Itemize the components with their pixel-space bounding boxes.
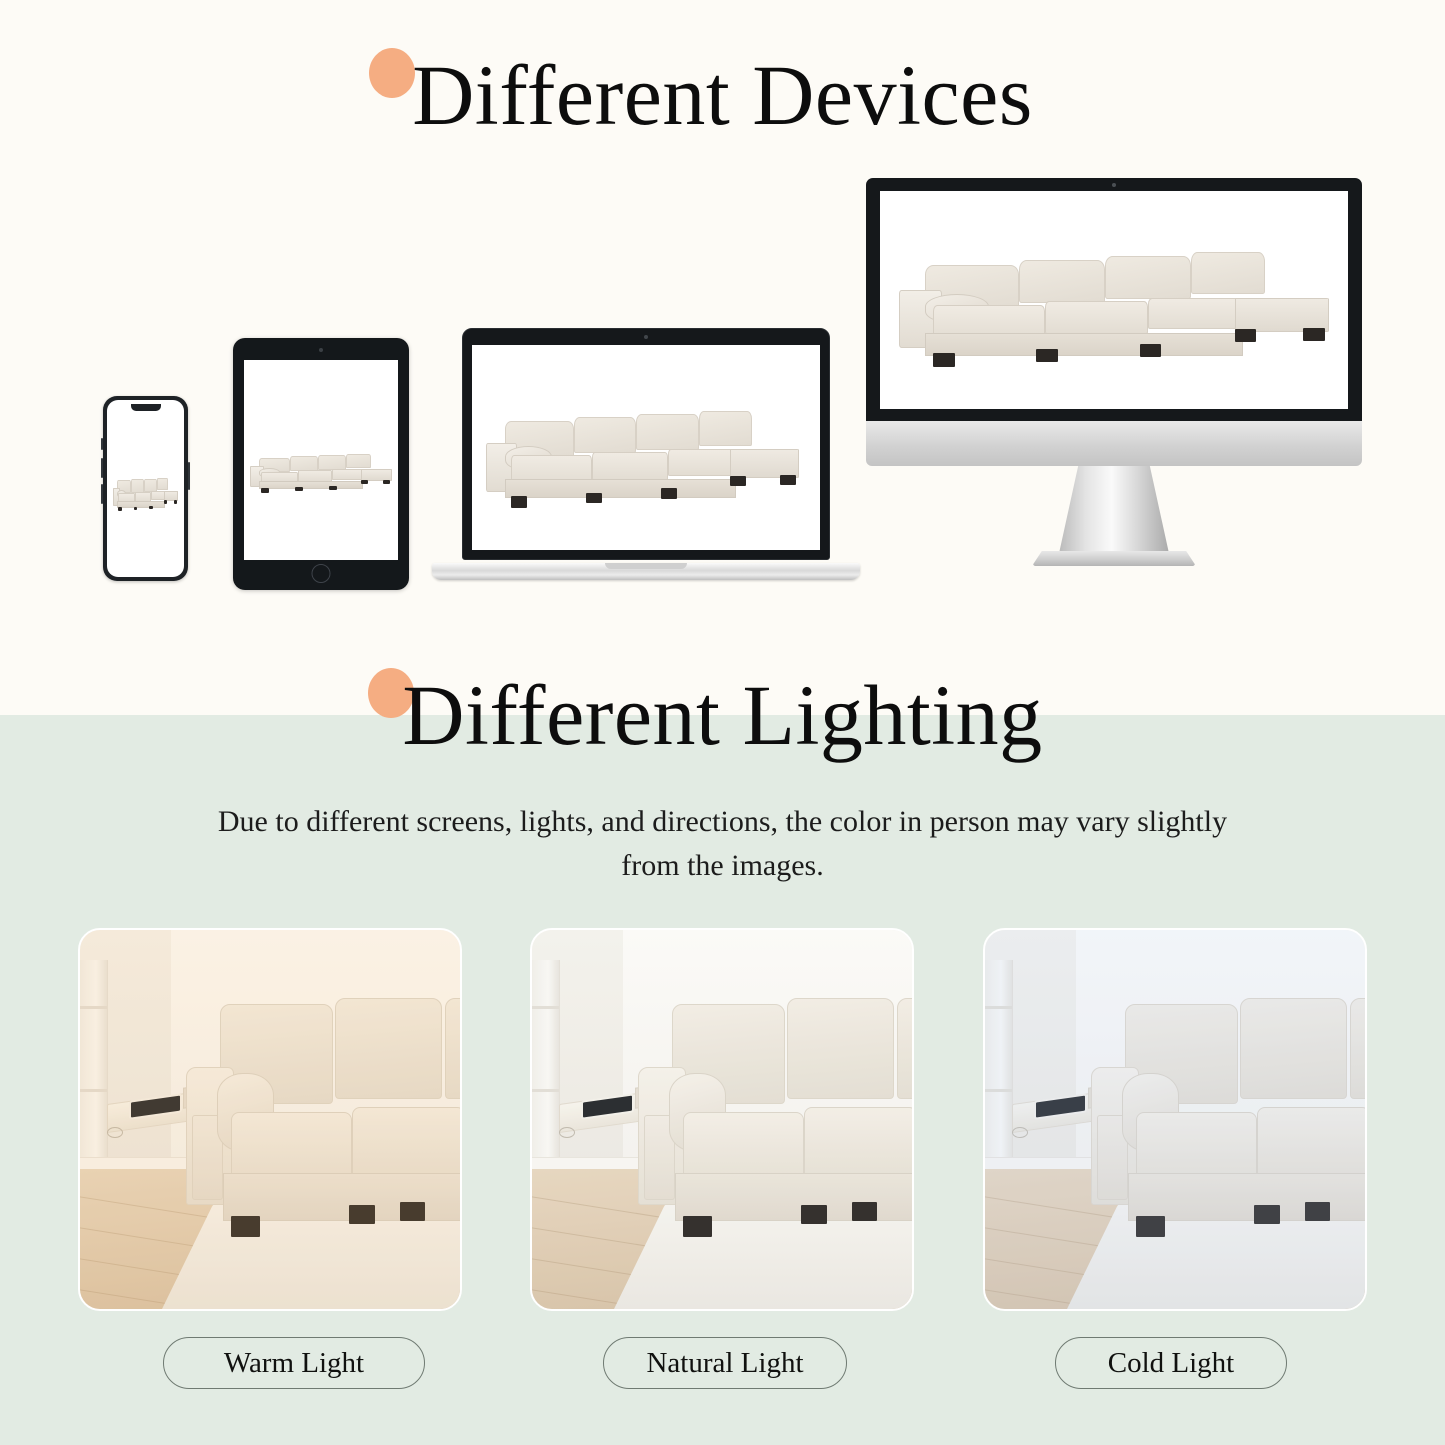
sofa-image-laptop	[486, 411, 799, 518]
room-scene	[532, 930, 912, 1309]
lighting-panel-natural	[530, 928, 914, 1311]
lighting-panel-cold	[983, 928, 1367, 1311]
room-scene	[985, 930, 1365, 1309]
monitor-stand-neck	[1058, 466, 1170, 558]
device-laptop	[456, 328, 836, 580]
room-sofa	[1091, 998, 1365, 1263]
monitor-chin	[866, 421, 1362, 466]
devices-heading: Different Devices	[0, 52, 1445, 138]
room-shelf-bar	[532, 1006, 559, 1009]
sofa-image-tablet	[250, 454, 392, 498]
room-shelf-bar	[80, 1006, 107, 1009]
lighting-subtitle: Due to different screens, lights, and di…	[198, 800, 1248, 887]
room-shelf-bar	[80, 1089, 107, 1092]
phone-power-button	[188, 462, 190, 490]
sofa-image-monitor	[899, 252, 1330, 378]
monitor-camera-icon	[1112, 183, 1116, 187]
laptop-base	[432, 563, 860, 580]
phone-volume-up-button	[101, 458, 103, 478]
room-shelf-bar	[985, 1089, 1012, 1092]
label-warm-light: Warm Light	[163, 1337, 425, 1389]
tablet-camera-icon	[319, 348, 323, 352]
monitor-screen	[880, 191, 1348, 409]
phone-volume-down-button	[101, 484, 103, 504]
lighting-heading: Different Lighting	[0, 672, 1445, 758]
room-shelf	[532, 960, 560, 1180]
device-phone	[103, 396, 188, 581]
monitor-bezel	[866, 178, 1362, 421]
laptop-camera-icon	[644, 335, 648, 339]
tray-handle-icon	[559, 1127, 575, 1138]
laptop-trackpad-notch	[605, 563, 687, 569]
label-natural-light: Natural Light	[603, 1337, 847, 1389]
monitor-stand-base	[1032, 551, 1196, 566]
sofa-image-phone	[113, 478, 178, 517]
device-tablet	[233, 338, 409, 590]
infographic-page: Different Devices	[0, 0, 1445, 1445]
room-shelf	[80, 960, 108, 1180]
tablet-home-button	[312, 564, 331, 583]
device-monitor	[866, 178, 1362, 598]
tray-handle-icon	[107, 1127, 123, 1138]
tablet-screen	[244, 360, 398, 560]
lighting-panel-warm	[78, 928, 462, 1311]
room-shelf-bar	[532, 1089, 559, 1092]
room-scene	[80, 930, 460, 1309]
label-cold-light: Cold Light	[1055, 1337, 1287, 1389]
laptop-screen	[472, 345, 820, 550]
room-sofa	[638, 998, 912, 1263]
room-shelf-bar	[985, 1006, 1012, 1009]
room-shelf	[985, 960, 1013, 1180]
phone-mute-button	[101, 438, 103, 450]
phone-screen	[107, 400, 184, 577]
phone-notch	[131, 404, 161, 411]
tray-handle-icon	[1012, 1127, 1028, 1138]
room-sofa	[186, 998, 460, 1263]
laptop-lid	[462, 328, 830, 560]
